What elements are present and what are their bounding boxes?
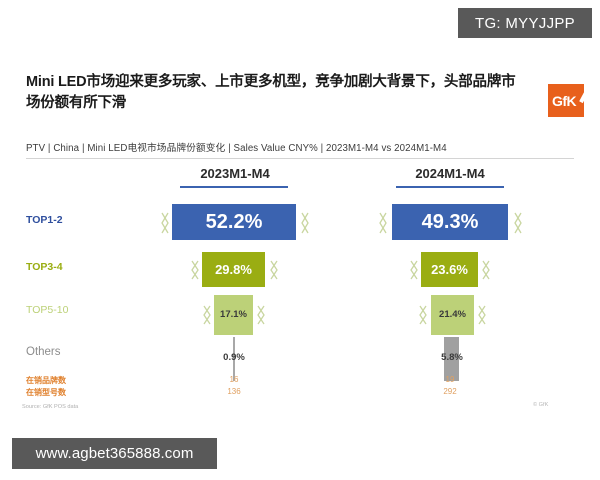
bar-value-2023-top1-2: 52.2%: [206, 212, 263, 232]
bar-value-2023-top5-10: 17.1%: [220, 310, 247, 320]
range-bracket-right-2024-top5-10: [477, 305, 487, 325]
bar-2023-top3-4: 29.8%: [202, 252, 265, 287]
gfk-logo-text: GfK: [552, 93, 576, 109]
page-title: Mini LED市场迎来更多玩家、上市更多机型，竞争加剧大背景下，头部品牌市场份…: [26, 72, 526, 114]
row-label-top1-2: TOP1-2: [26, 214, 136, 226]
row-label-top3-4: TOP3-4: [26, 261, 136, 273]
copyright-note: © GfK: [533, 402, 548, 408]
bar-2024-top1-2: 49.3%: [392, 204, 508, 240]
bar-value-2024-top5-10: 21.4%: [439, 310, 466, 320]
row-label-others: Others: [26, 346, 136, 358]
range-bracket-left-2023-top5-10: [202, 305, 212, 325]
bar-2023-top1-2: 52.2%: [172, 204, 296, 240]
range-bracket-left-2024-top3-4: [409, 260, 419, 280]
range-bracket-right-2024-top1-2: [513, 212, 523, 234]
bar-2024-top5-10: 21.4%: [431, 295, 474, 335]
telegram-watermark: TG: MYYJJPP: [458, 8, 592, 38]
column-header-2023-underline: [180, 186, 288, 188]
bar-2024-top3-4: 23.6%: [421, 252, 478, 287]
count-label-brands: 在销品牌数: [26, 375, 66, 386]
bar-value-2024-top1-2: 49.3%: [422, 212, 479, 232]
count-value-2024-models: 292: [420, 387, 480, 396]
range-bracket-left-2024-top1-2: [378, 212, 388, 234]
range-bracket-right-2023-top1-2: [300, 212, 310, 234]
slide-subtitle: PTV | China | Mini LED电视市场品牌份额变化 | Sales…: [26, 140, 447, 154]
bar-value-2023-top3-4: 29.8%: [215, 263, 252, 276]
row-label-top5-10: TOP5-10: [26, 304, 136, 316]
bar-value-2024-top3-4: 23.6%: [431, 263, 468, 276]
column-header-2024-underline: [396, 186, 504, 188]
range-bracket-right-2024-top3-4: [481, 260, 491, 280]
column-header-2024: 2024M1-M4: [370, 166, 530, 181]
slide-header: Mini LED市场迎来更多玩家、上市更多机型，竞争加剧大背景下，头部品牌市场份…: [26, 72, 526, 114]
bar-value-2024-others-wrap: 5.8%: [424, 351, 480, 365]
bar-value-2024-others: 5.8%: [441, 353, 463, 363]
range-bracket-left-2024-top5-10: [418, 305, 428, 325]
range-bracket-left-2023-top1-2: [160, 212, 170, 234]
bar-2023-top5-10: 17.1%: [214, 295, 253, 335]
count-value-2023-models: 136: [204, 387, 264, 396]
column-header-2023: 2023M1-M4: [155, 166, 315, 181]
bar-value-2023-others: 0.9%: [223, 353, 245, 363]
slide-canvas: Mini LED市场迎来更多玩家、上市更多机型，竞争加剧大背景下，头部品牌市场份…: [0, 62, 600, 414]
header-divider: [26, 158, 574, 159]
range-bracket-left-2023-top3-4: [190, 260, 200, 280]
count-value-2023-brands: 16: [204, 375, 264, 384]
brand-share-chart: 2023M1-M4 2024M1-M4 TOP1-2 TOP3-4 TOP5-1…: [0, 162, 600, 414]
range-bracket-right-2023-top3-4: [269, 260, 279, 280]
url-watermark: www.agbet365888.com: [12, 438, 217, 469]
range-bracket-right-2023-top5-10: [256, 305, 266, 325]
gfk-logo: GfK: [548, 84, 584, 117]
bar-value-2023-others-wrap: 0.9%: [206, 351, 262, 365]
gfk-logo-slash: [579, 84, 584, 103]
count-value-2024-brands: 19: [420, 375, 480, 384]
source-note: Source: GfK POS data: [22, 404, 78, 410]
count-label-models: 在销型号数: [26, 387, 66, 398]
